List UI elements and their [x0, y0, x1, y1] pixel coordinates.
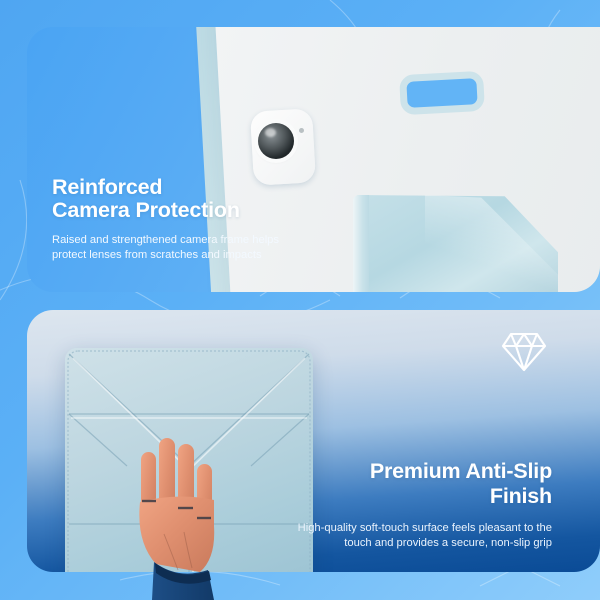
diamond-icon: [501, 329, 547, 373]
camera-protection-text-block: Reinforced Camera Protection Raised and …: [52, 176, 307, 262]
camera-protection-heading-line2: Camera Protection: [52, 199, 307, 222]
product-feature-graphic: Reinforced Camera Protection Raised and …: [0, 0, 600, 600]
anti-slip-heading-line2: Finish: [282, 484, 552, 509]
camera-protection-body: Raised and strengthened camera frame hel…: [52, 233, 307, 262]
anti-slip-body: High-quality soft-touch surface feels pl…: [282, 521, 552, 551]
camera-lens-icon: [258, 123, 294, 159]
anti-slip-heading-line1: Premium Anti-Slip: [282, 459, 552, 484]
camera-lens-glint: [265, 128, 276, 137]
camera-flash-icon: [299, 128, 304, 133]
hand-illustration: [112, 430, 240, 600]
anti-slip-text-block: Premium Anti-Slip Finish High-quality so…: [282, 459, 552, 551]
strap-cutout: [399, 71, 485, 115]
kickstand-fold-edge: [353, 195, 369, 292]
camera-protection-heading-line1: Reinforced: [52, 176, 307, 199]
